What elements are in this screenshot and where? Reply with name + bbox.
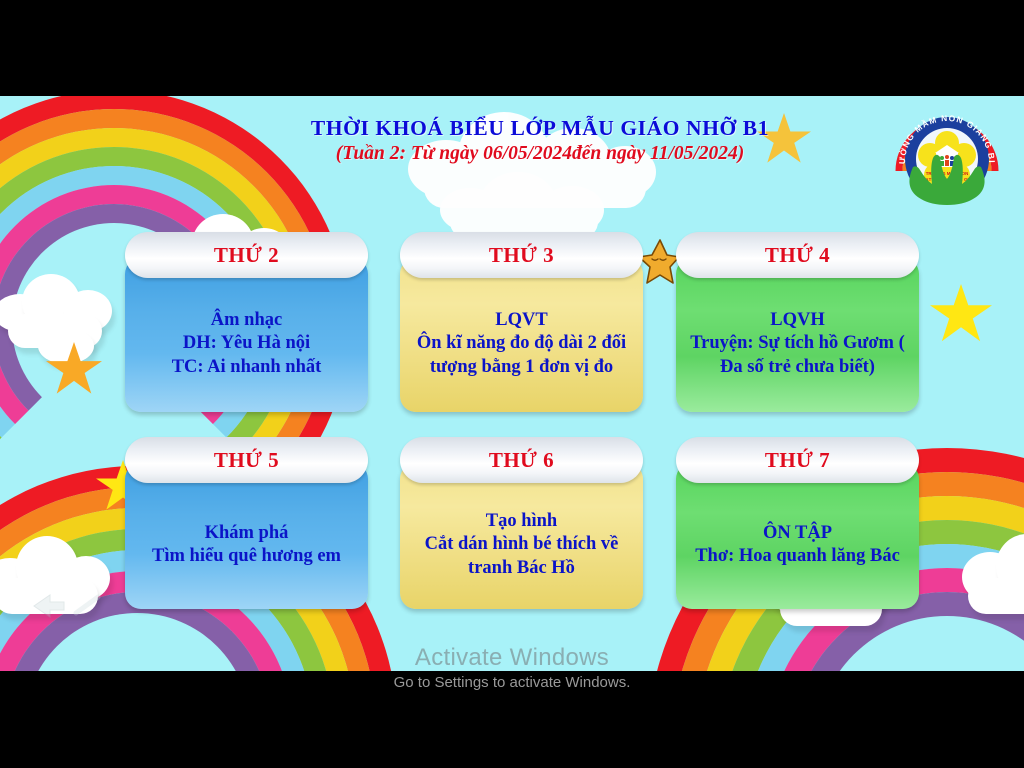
day-card-header: THỨ 5 bbox=[125, 437, 368, 483]
day-card-header: THỨ 2 bbox=[125, 232, 368, 278]
school-logo-icon: TRƯỜNG MẦM NON GIANG BIÊN TRƯỜNG MẦM NON… bbox=[893, 101, 1001, 207]
day-card-thu-7[interactable]: ÔN TẬP Thơ: Hoa quanh lăng Bác THỨ 7 bbox=[676, 437, 919, 609]
day-card-body: ÔN TẬP Thơ: Hoa quanh lăng Bác bbox=[676, 463, 919, 609]
title-line-1: THỜI KHOÁ BIỂU LỚP MẪU GIÁO NHỠ B1 bbox=[280, 116, 800, 141]
day-card-label: THỨ 2 bbox=[214, 243, 279, 268]
day-card-thu-6[interactable]: Tạo hình Cắt dán hình bé thích về tranh … bbox=[400, 437, 643, 609]
day-card-label: THỨ 5 bbox=[214, 448, 279, 473]
day-card-content: Âm nhạc DH: Yêu Hà nội TC: Ai nhanh nhất bbox=[172, 309, 322, 379]
day-card-header: THỨ 3 bbox=[400, 232, 643, 278]
day-card-body: Âm nhạc DH: Yêu Hà nội TC: Ai nhanh nhất bbox=[125, 258, 368, 412]
slideshow-nav-arrows[interactable] bbox=[28, 591, 108, 621]
day-card-header: THỨ 4 bbox=[676, 232, 919, 278]
day-card-body: LQVH Truyện: Sự tích hồ Gươm ( Đa số trẻ… bbox=[676, 258, 919, 412]
day-card-content: Khám phá Tìm hiểu quê hương em bbox=[152, 522, 341, 569]
day-card-label: THỨ 6 bbox=[489, 448, 554, 473]
schedule-grid: Âm nhạc DH: Yêu Hà nội TC: Ai nhanh nhất… bbox=[0, 96, 1024, 671]
day-card-header: THỨ 6 bbox=[400, 437, 643, 483]
slide-title: THỜI KHOÁ BIỂU LỚP MẪU GIÁO NHỠ B1 (Tuần… bbox=[280, 116, 800, 165]
letterbox-bottom bbox=[0, 671, 1024, 768]
day-card-body: LQVT Ôn kĩ năng đo độ dài 2 đối tượng bằ… bbox=[400, 258, 643, 412]
day-card-body: Tạo hình Cắt dán hình bé thích về tranh … bbox=[400, 463, 643, 609]
day-card-body: Khám phá Tìm hiểu quê hương em bbox=[125, 463, 368, 609]
day-card-content: LQVH Truyện: Sự tích hồ Gươm ( Đa số trẻ… bbox=[686, 309, 909, 379]
day-card-label: THỨ 4 bbox=[765, 243, 830, 268]
day-card-content: Tạo hình Cắt dán hình bé thích về tranh … bbox=[410, 510, 633, 580]
day-card-thu-5[interactable]: Khám phá Tìm hiểu quê hương em THỨ 5 bbox=[125, 437, 368, 609]
slide-canvas: THỜI KHOÁ BIỂU LỚP MẪU GIÁO NHỠ B1 (Tuần… bbox=[0, 96, 1024, 671]
day-card-thu-2[interactable]: Âm nhạc DH: Yêu Hà nội TC: Ai nhanh nhất… bbox=[125, 232, 368, 412]
title-line-2: (Tuần 2: Từ ngày 06/05/2024đến ngày 11/0… bbox=[280, 143, 800, 165]
day-card-label: THỨ 3 bbox=[489, 243, 554, 268]
day-card-content: LQVT Ôn kĩ năng đo độ dài 2 đối tượng bằ… bbox=[410, 309, 633, 379]
day-card-thu-3[interactable]: LQVT Ôn kĩ năng đo độ dài 2 đối tượng bằ… bbox=[400, 232, 643, 412]
day-card-thu-4[interactable]: LQVH Truyện: Sự tích hồ Gươm ( Đa số trẻ… bbox=[676, 232, 919, 412]
letterbox-top bbox=[0, 0, 1024, 96]
day-card-label: THỨ 7 bbox=[765, 448, 830, 473]
day-card-header: THỨ 7 bbox=[676, 437, 919, 483]
day-card-content: ÔN TẬP Thơ: Hoa quanh lăng Bác bbox=[695, 522, 900, 569]
